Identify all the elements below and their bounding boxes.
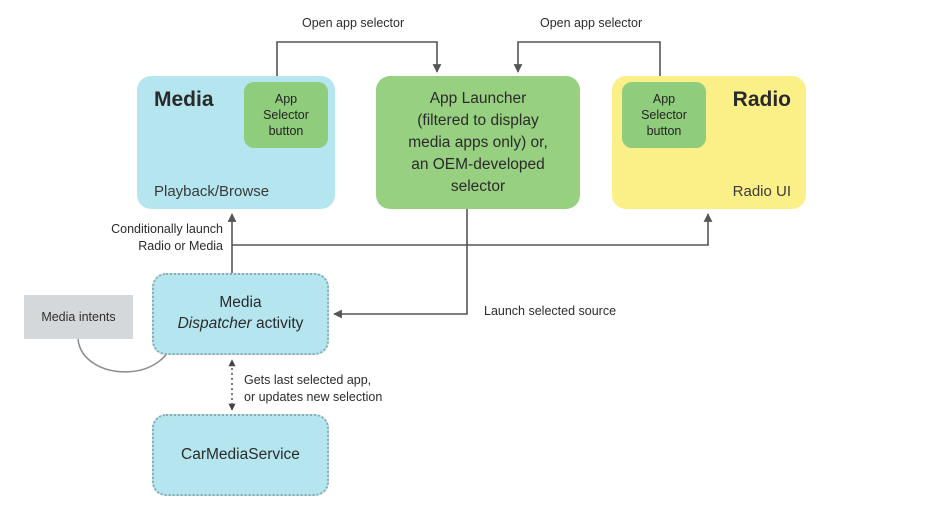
edge-label-open-app-selector-left: Open app selector	[302, 15, 404, 32]
media-dispatcher-line2: Dispatcher activity	[178, 314, 304, 335]
media-footer-label: Playback/Browse	[154, 183, 269, 200]
app-launcher-box[interactable]: App Launcher (filtered to display media …	[376, 76, 580, 209]
car-media-service-label: CarMediaService	[181, 445, 300, 466]
media-dispatcher-activity-box[interactable]: Media Dispatcher activity	[152, 273, 329, 355]
media-dispatcher-line1: Media	[178, 293, 304, 314]
edge-media-to-launcher	[277, 42, 437, 76]
edge-label-gets-last-selected-app: Gets last selected app, or updates new s…	[244, 372, 382, 405]
media-dispatcher-line2-italic: Dispatcher	[178, 315, 252, 332]
edge-launcher-to-dispatcher	[334, 209, 467, 314]
car-media-service-box[interactable]: CarMediaService	[152, 414, 329, 496]
media-dispatcher-line2-plain: activity	[252, 315, 304, 332]
media-dispatcher-label: Media Dispatcher activity	[178, 293, 304, 335]
edge-label-launch-selected-source: Launch selected source	[484, 303, 616, 320]
radio-title: Radio	[733, 88, 791, 112]
media-title: Media	[154, 88, 214, 112]
diagram-canvas: Media App Selector button Playback/Brows…	[0, 0, 931, 526]
media-app-box[interactable]: Media App Selector button Playback/Brows…	[137, 76, 335, 209]
radio-footer-label: Radio UI	[733, 183, 791, 200]
media-app-selector-button[interactable]: App Selector button	[244, 82, 328, 148]
edge-label-open-app-selector-right: Open app selector	[540, 15, 642, 32]
edge-dispatcher-to-radio	[232, 214, 708, 245]
media-intents-label: Media intents	[41, 310, 115, 324]
app-launcher-label: App Launcher (filtered to display media …	[376, 76, 580, 209]
radio-app-box[interactable]: Radio App Selector button Radio UI	[612, 76, 806, 209]
edge-label-conditionally-launch: Conditionally launch Radio or Media	[99, 221, 223, 254]
media-intents-box[interactable]: Media intents	[24, 295, 133, 339]
edge-radio-to-launcher	[518, 42, 660, 76]
radio-app-selector-button[interactable]: App Selector button	[622, 82, 706, 148]
